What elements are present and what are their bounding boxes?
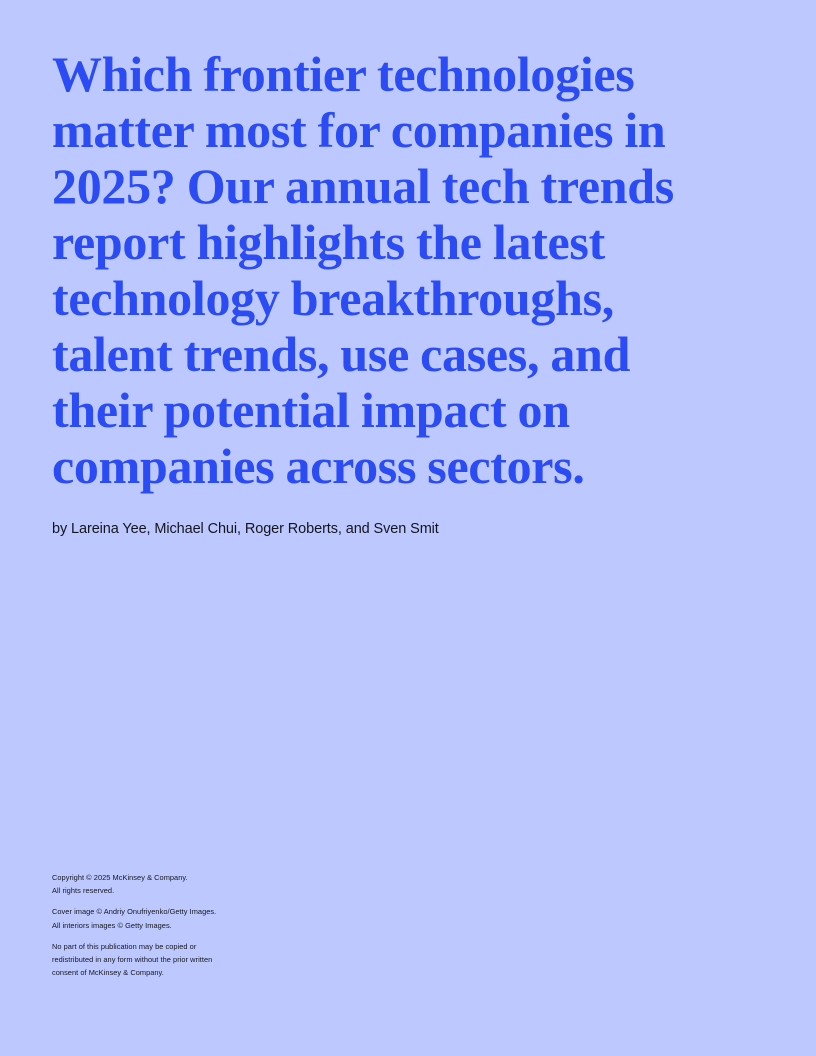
rights-notice-line-1: No part of this publication may be copie… (52, 940, 282, 953)
byline: by Lareina Yee, Michael Chui, Roger Robe… (52, 519, 439, 539)
copyright-block: Copyright © 2025 McKinsey & Company. All… (52, 871, 282, 897)
image-credit-line-1: Cover image © Andriy Onufriyenko/Getty I… (52, 905, 282, 918)
rights-notice-line-3: consent of McKinsey & Company. (52, 966, 282, 979)
page-title: Which frontier technologies matter most … (52, 46, 712, 494)
rights-notice-block: No part of this publication may be copie… (52, 940, 282, 980)
image-credits-block: Cover image © Andriy Onufriyenko/Getty I… (52, 905, 282, 931)
cover-page: Which frontier technologies matter most … (0, 0, 816, 1056)
rights-notice-line-2: redistributed in any form without the pr… (52, 953, 282, 966)
copyright-line-1: Copyright © 2025 McKinsey & Company. (52, 871, 282, 884)
image-credit-line-2: All interiors images © Getty Images. (52, 919, 282, 932)
colophon: Copyright © 2025 McKinsey & Company. All… (52, 871, 282, 979)
copyright-line-2: All rights reserved. (52, 884, 282, 897)
